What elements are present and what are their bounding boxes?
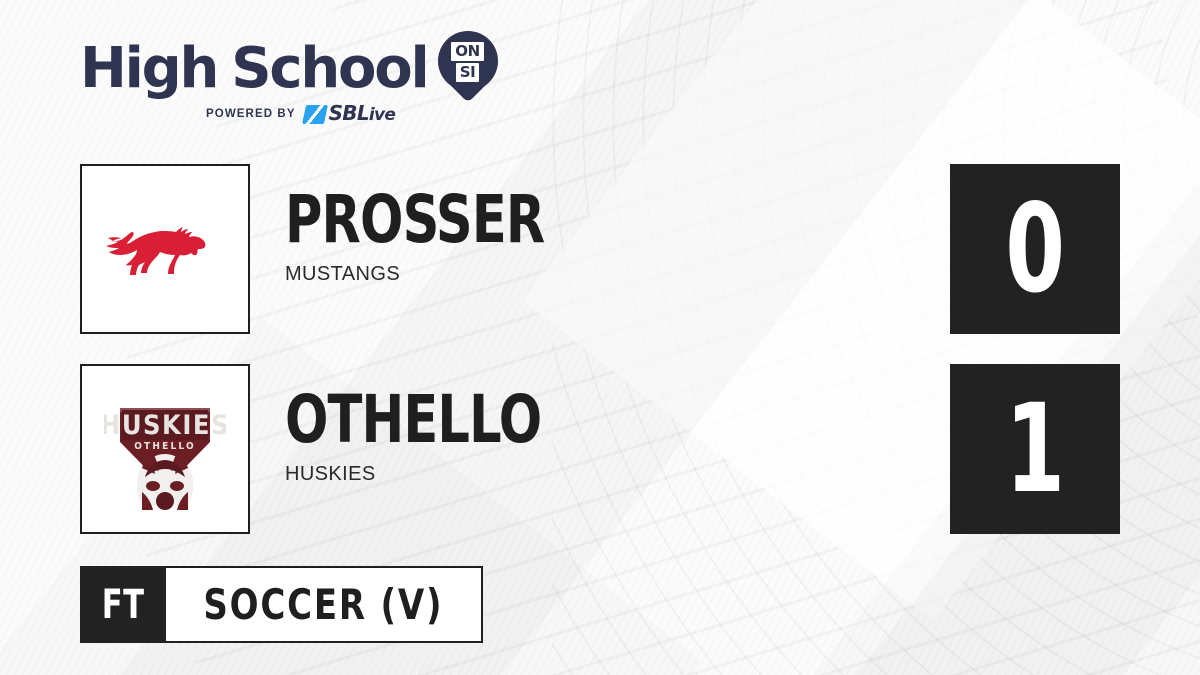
- pin-label-stack: ON SI: [438, 42, 498, 82]
- team-logo-box: HUSKIES OTHELLO: [80, 364, 250, 534]
- sblive-wordmark-main: SBL: [329, 101, 369, 125]
- game-status-label: FT: [102, 582, 145, 628]
- brand-wordmark-row: High School ON SI: [80, 36, 510, 102]
- huskies-logo-wordmark: HUSKIES: [104, 410, 226, 441]
- team-name: OTHELLO: [285, 386, 541, 454]
- sblive-s-mark-icon: [302, 105, 328, 124]
- team-score: 0: [1005, 187, 1065, 311]
- team-score-box: 1: [950, 364, 1120, 534]
- huskies-logo-subtext: OTHELLO: [134, 441, 196, 452]
- team-mascot: HUSKIES: [285, 463, 583, 486]
- team-row: PROSSER MUSTANGS 0: [80, 164, 1120, 334]
- sblive-wordmark: SBLive: [329, 103, 396, 125]
- brand-word-high: High: [80, 38, 217, 100]
- sport-label: SOCCER (V): [203, 580, 443, 629]
- sblive-wordmark-suffix: ive: [369, 105, 395, 125]
- brand-word-school: School: [231, 38, 427, 100]
- mustang-logo: [105, 214, 225, 284]
- team-score: 1: [1005, 387, 1065, 511]
- team-score-box: 0: [950, 164, 1120, 334]
- status-bar: FT SOCCER (V): [80, 566, 483, 643]
- team-logo-box: [80, 164, 250, 334]
- team-mascot: MUSTANGS: [285, 263, 587, 286]
- on-si-pin-icon: ON SI: [438, 31, 498, 105]
- sblive-logo: SBLive: [304, 103, 396, 125]
- team-text-block: OTHELLO HUSKIES: [285, 386, 583, 486]
- scoreboard-graphic: High School ON SI POWERED BY SBLive: [0, 0, 1200, 675]
- powered-by-row: POWERED BY SBLive: [206, 103, 510, 125]
- huskies-logo: HUSKIES OTHELLO: [104, 388, 226, 510]
- pin-label-on: ON: [451, 42, 484, 61]
- team-row: HUSKIES OTHELLO OTHELLO HUSKIES: [80, 364, 1120, 534]
- team-name: PROSSER: [285, 186, 544, 254]
- team-text-block: PROSSER MUSTANGS: [285, 186, 587, 286]
- game-status-badge: FT: [80, 566, 166, 643]
- sport-badge: SOCCER (V): [166, 566, 483, 643]
- powered-by-label: POWERED BY: [206, 108, 296, 120]
- pin-label-si: SI: [456, 63, 480, 82]
- brand-lockup: High School ON SI POWERED BY SBLive: [80, 36, 510, 136]
